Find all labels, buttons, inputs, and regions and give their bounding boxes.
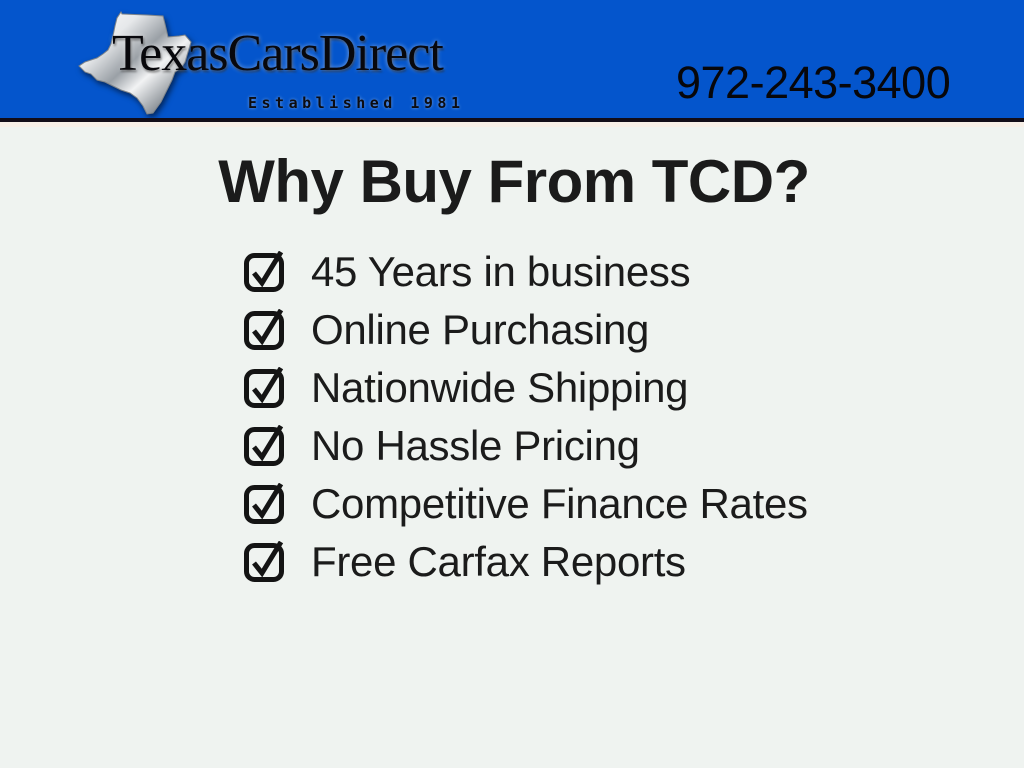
phone-number[interactable]: 972-243-3400 <box>676 60 950 105</box>
brand-tagline: Established 1981 <box>248 94 465 112</box>
benefits-checklist: 45 Years in business Online Purchasing N… <box>243 243 963 591</box>
header-divider-cream <box>0 122 1024 127</box>
list-item: Nationwide Shipping <box>243 359 963 417</box>
list-item-label: Online Purchasing <box>311 309 963 351</box>
page-title: Why Buy From TCD? <box>0 152 1024 212</box>
checked-checkbox-icon <box>243 309 286 352</box>
brand-logo[interactable]: TexasCarsDirect Established 1981 <box>70 8 500 118</box>
brand-wordmark: TexasCarsDirect <box>112 28 443 80</box>
checked-checkbox-icon <box>243 483 286 526</box>
checked-checkbox-icon <box>243 367 286 410</box>
checked-checkbox-icon <box>243 541 286 584</box>
checked-checkbox-icon <box>243 425 286 468</box>
header-banner: TexasCarsDirect Established 1981 972-243… <box>0 0 1024 118</box>
list-item-label: No Hassle Pricing <box>311 425 963 467</box>
slide-root: TexasCarsDirect Established 1981 972-243… <box>0 0 1024 768</box>
list-item-label: Nationwide Shipping <box>311 367 963 409</box>
list-item: No Hassle Pricing <box>243 417 963 475</box>
list-item: Competitive Finance Rates <box>243 475 963 533</box>
list-item-label: Competitive Finance Rates <box>311 483 963 525</box>
list-item: Online Purchasing <box>243 301 963 359</box>
checked-checkbox-icon <box>243 251 286 294</box>
list-item: 45 Years in business <box>243 243 963 301</box>
list-item-label: 45 Years in business <box>311 251 963 293</box>
list-item-label: Free Carfax Reports <box>311 541 963 583</box>
list-item: Free Carfax Reports <box>243 533 963 591</box>
